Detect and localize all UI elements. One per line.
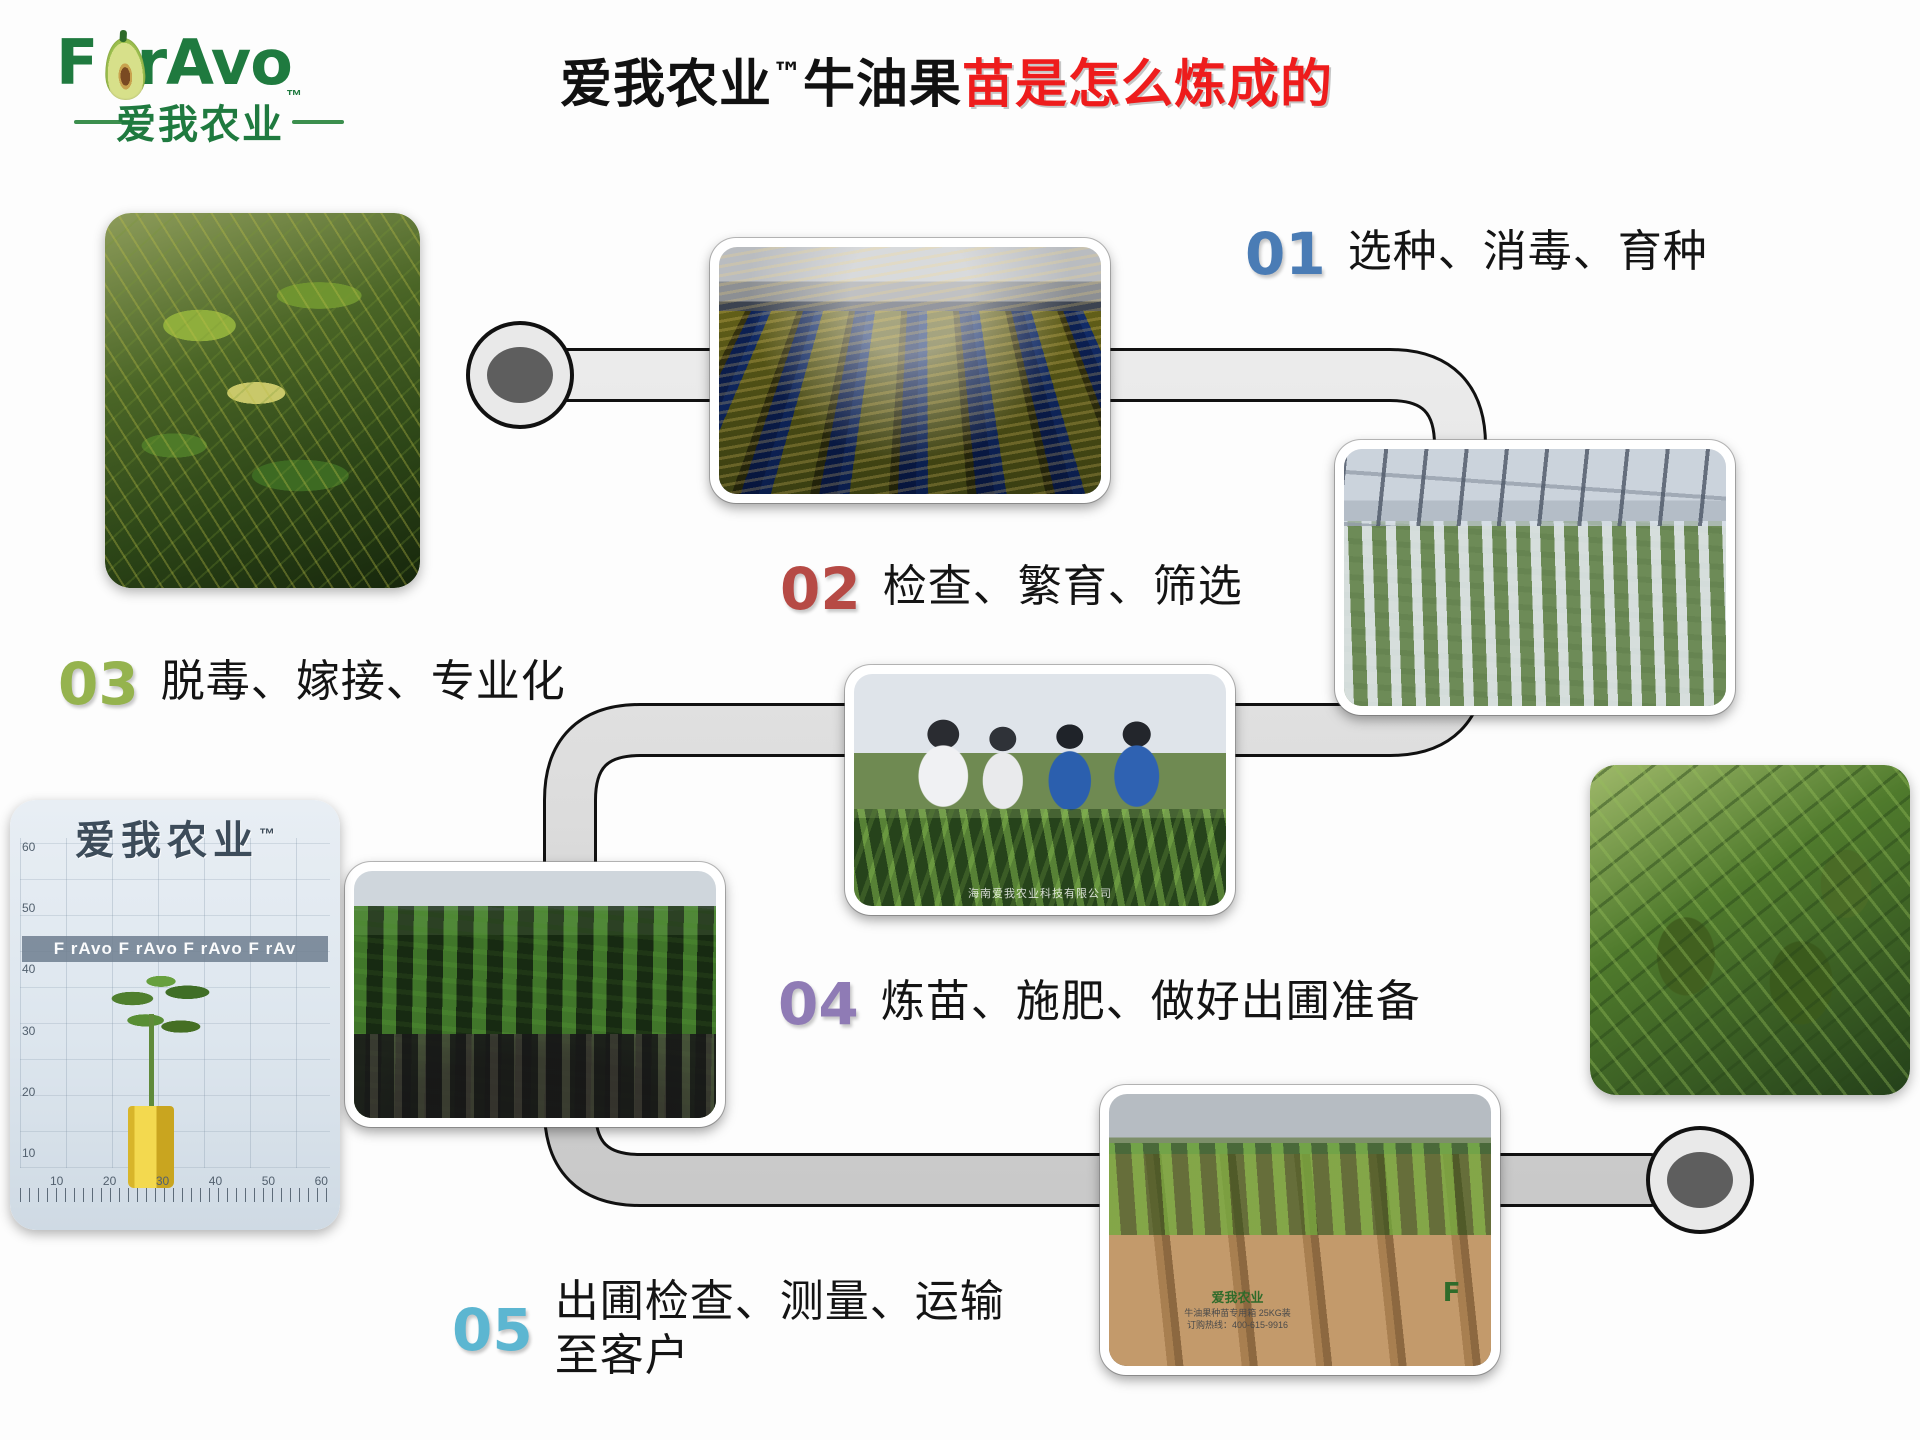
ruler-brand-band: F rAvo F rAvo F rAvo F rAv [22,936,328,962]
potted-seedling-rows-photo [345,862,725,1127]
avocado-flowering-branch-photo [105,213,420,588]
logo-divider-right [292,120,344,124]
logo-trademark-symbol: ™ [286,88,302,106]
connector-start-node [468,323,572,427]
box-brand-mark: F [1443,1278,1461,1308]
logo-word-pre: F [56,26,95,99]
step-03-number: 03 [58,655,139,713]
title-black-tail: 牛油果 [803,55,962,115]
step-05-label: 05 出圃检查、测量、运输 至客户 [452,1275,1005,1382]
logo-chinese-name: 爱我农业 [116,92,284,150]
title-red-highlight: 苗是怎么炼成的 [962,55,1333,115]
brand-logo: ForAvo 爱我农业 ™ [48,30,348,145]
ruler-watermark: 爱我农业™ [10,808,340,866]
connector-start-dot [487,347,553,403]
step-01-text: 选种、消毒、育种 [1348,225,1708,279]
step-02-text: 检查、繁育、筛选 [883,560,1243,614]
page-title: 爱我农业™牛油果苗是怎么炼成的 [560,42,1520,117]
step-04-number: 04 [778,975,859,1033]
packed-boxes-shipping-photo: 爱我农业 牛油果种苗专用箱 25KG装 订购热线：400-615-9916 F [1100,1085,1500,1375]
staff-inspecting-seedlings-photo: 海南爱我农业科技有限公司 [845,665,1235,915]
step-02-label: 02 检查、繁育、筛选 [780,560,1243,618]
step-03-label: 03 脱毒、嫁接、专业化 [58,655,566,713]
seedling-measurement-ruler-photo: 爱我农业™ 60 50 40 30 20 10 F rAvo F rAvo F … [10,800,340,1230]
logo-word-post: rAvo [136,26,291,99]
step-05-text: 出圃检查、测量、运输 至客户 [555,1275,1005,1382]
logo-wordmark: ForAvo [56,32,292,94]
step-04-label: 04 炼苗、施肥、做好出圃准备 [778,975,1421,1033]
step-05-text-line1: 出圃检查、测量、运输 [555,1276,1005,1327]
ruler-baseline [20,1188,330,1202]
connector-end-dot [1667,1152,1733,1208]
step-01-number: 01 [1245,225,1326,283]
box-printed-label: 爱我农业 牛油果种苗专用箱 25KG装 订购热线：400-615-9916 [1162,1289,1312,1332]
ruler-y-axis: 60 50 40 30 20 10 [22,840,56,1160]
step-02-number: 02 [780,560,861,618]
step-01-label: 01 选种、消毒、育种 [1245,225,1708,283]
avocado-fruit-on-tree-photo [1590,765,1910,1095]
title-trademark-symbol: ™ [772,57,803,92]
photo-credit: 海南爱我农业科技有限公司 [854,885,1226,901]
ruler-seedling-leaves [106,972,216,1050]
step-04-text: 炼苗、施肥、做好出圃准备 [881,975,1421,1029]
greenhouse-grafted-plants-photo [1335,440,1735,715]
step-05-number: 05 [452,1301,533,1359]
step-03-text: 脱毒、嫁接、专业化 [161,655,566,709]
ruler-seedling-stem [149,1014,154,1110]
infographic-canvas: ForAvo 爱我农业 ™ 爱我农业™牛油果苗是怎么炼成的 [0,0,1920,1440]
seed-germination-trays-photo [710,238,1110,503]
title-black-main: 爱我农业 [560,55,772,115]
step-05-text-line2: 至客户 [555,1330,690,1381]
connector-end-node [1648,1128,1752,1232]
